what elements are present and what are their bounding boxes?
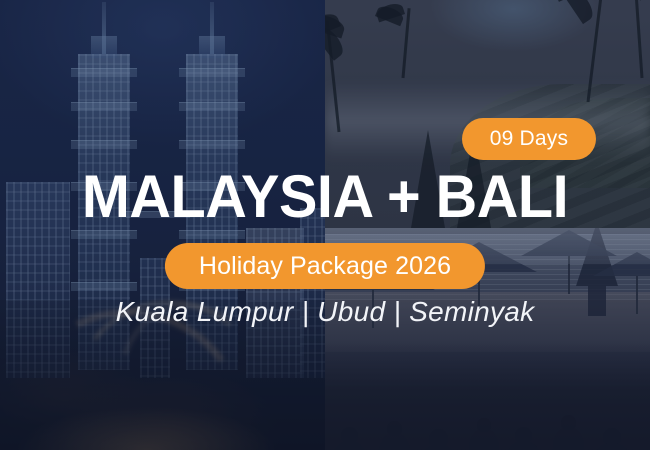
- travel-promo-banner: 09 Days MALAYSIA + BALI Holiday Package …: [0, 0, 650, 450]
- duration-badge: 09 Days: [462, 118, 596, 160]
- banner-content: 09 Days MALAYSIA + BALI Holiday Package …: [0, 0, 650, 450]
- duration-badge-label: 09 Days: [490, 127, 568, 151]
- package-pill: Holiday Package 2026: [165, 243, 485, 289]
- banner-headline: MALAYSIA + BALI: [13, 167, 637, 227]
- package-pill-label: Holiday Package 2026: [199, 252, 451, 281]
- destinations-list: Kuala Lumpur | Ubud | Seminyak: [0, 296, 650, 328]
